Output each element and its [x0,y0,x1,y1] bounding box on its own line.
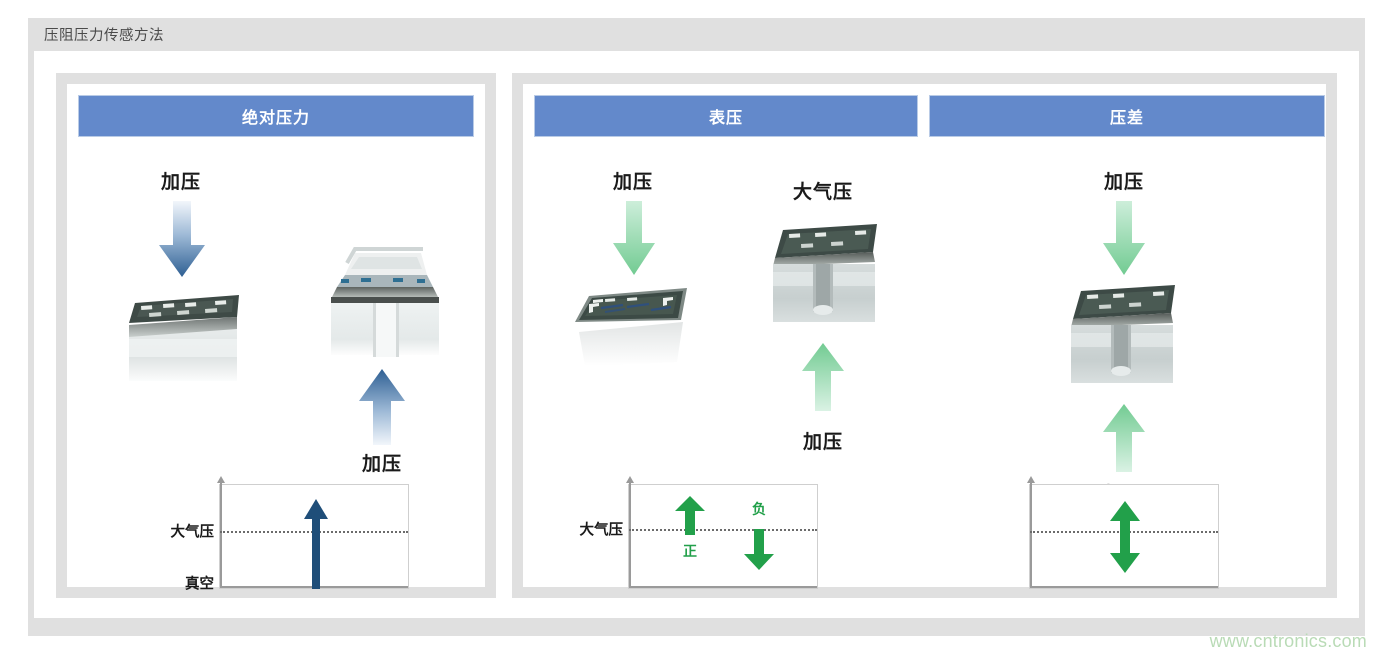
chart-y-axis-arrow-icon [217,476,225,483]
sensor-chip-vented-gauge [767,216,885,338]
sensor-chip-open-abs [315,239,451,361]
panel-group-absolute: 绝对压力 加压 [56,73,496,598]
up-arrow-blue-abs [357,367,407,445]
chart-y-axis [629,481,631,588]
watermark: www.cntronics.com [1210,631,1367,652]
chart-y-axis-arrow-icon [1027,476,1035,483]
tab-label: 压阻压力传感方法 [44,24,164,45]
chart-double-arrow-differential [1108,499,1142,575]
tabstrip: 压阻压力传感方法 [28,18,1365,51]
sensor-chip-sealed-abs [119,277,247,383]
panel-body-absolute: 加压 [67,139,485,587]
chart-label-positive: 正 [683,541,697,561]
content-shell: 绝对压力 加压 [28,51,1365,636]
panel-body-gauge: 加压 [523,139,929,587]
chart-y-axis-arrow-icon [626,476,634,483]
panel-differential: 压差 加压 [929,84,1326,587]
label-atmospheric-gauge: 大气压 [793,177,853,204]
down-arrow-green-diff [1101,201,1147,277]
label-apply-pressure-top-abs: 加压 [161,167,201,194]
chart-y-axis [220,481,222,588]
panel-body-differential: 加压 [929,139,1326,587]
chart-label-atmospheric: 大气压 [553,519,623,540]
panel-header-label: 绝对压力 [242,104,310,128]
panel-header-absolute: 绝对压力 [78,95,474,137]
chart-differential [1029,484,1219,589]
tab-piezoresistive-method[interactable]: 压阻压力传感方法 [28,18,180,51]
chart-y-axis [1030,481,1032,588]
panel-gauge: 表压 加压 [523,84,929,587]
bottom-bar [28,618,1365,636]
chart-gauge: 大气压 正 负 [628,484,818,589]
label-apply-pressure-top-diff: 加压 [1104,167,1144,194]
panel-header-differential: 压差 [929,95,1325,137]
chart-label-atmospheric: 大气压 [144,521,214,542]
chart-x-axis [1030,586,1218,588]
panel-group-gauge-differential: 表压 加压 [512,73,1337,598]
panel-header-label: 表压 [709,104,743,128]
down-arrow-green-gauge [611,201,657,277]
chart-label-negative: 负 [752,499,766,519]
down-arrow-blue-abs [157,201,207,279]
chart-down-arrow-negative [742,529,776,571]
chart-x-axis [629,586,817,588]
sensor-chip-flat-gauge [565,274,697,374]
chart-up-arrow-absolute [303,497,329,589]
panel-header-gauge: 表压 [534,95,918,137]
sensor-chip-vented-diff [1065,277,1183,399]
up-arrow-green-gauge [800,341,846,411]
content-area: 绝对压力 加压 [34,51,1359,623]
label-apply-pressure-top-gauge: 加压 [613,167,653,194]
panel-absolute: 绝对压力 加压 [67,84,485,587]
atmospheric-reference-line [629,529,817,531]
chart-label-vacuum: 真空 [144,573,214,594]
label-apply-pressure-bottom-abs: 加压 [362,449,402,476]
diagram-page: 压阻压力传感方法 绝对压力 加压 [0,0,1375,654]
up-arrow-green-diff [1101,402,1147,472]
chart-absolute: 大气压 真空 [219,484,409,589]
label-apply-pressure-bottom-gauge: 加压 [803,427,843,454]
panel-header-label: 压差 [1110,104,1144,128]
chart-up-arrow-positive [673,495,707,535]
